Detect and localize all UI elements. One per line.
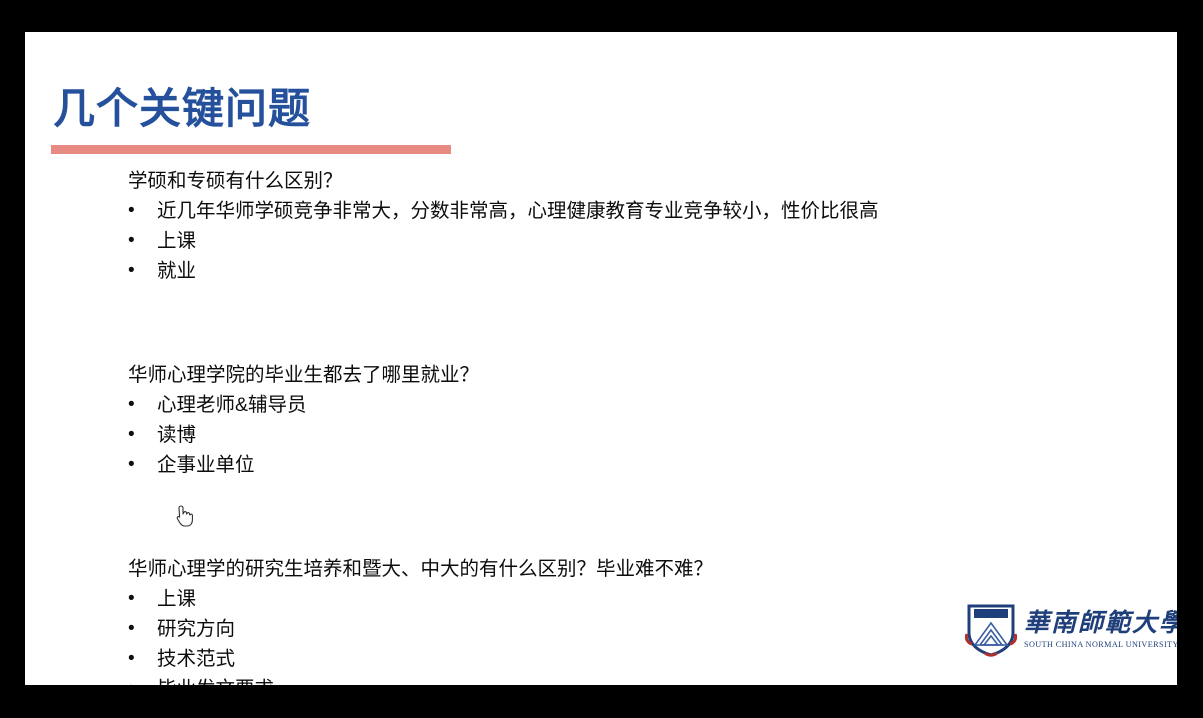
university-logo: 華南師範大學 SOUTH CHINA NORMAL UNIVERSITY xyxy=(965,600,1160,660)
bullet-icon: • xyxy=(128,674,157,685)
list-item-label: 读博 xyxy=(157,420,196,450)
logo-wordmark: 華南師範大學 SOUTH CHINA NORMAL UNIVERSITY xyxy=(1024,610,1177,649)
bullet-icon: • xyxy=(128,256,157,286)
list-item-label: 上课 xyxy=(157,584,196,614)
logo-name-en: SOUTH CHINA NORMAL UNIVERSITY xyxy=(1024,640,1177,650)
content-block-2: 华师心理学院的毕业生都去了哪里就业？ • 心理老师&辅导员 • 读博 • 企事业… xyxy=(128,360,1148,480)
list-item: • 读博 xyxy=(128,420,1148,450)
bullet-icon: • xyxy=(128,614,157,644)
block-heading: 华师心理学的研究生培养和暨大、中大的有什么区别？毕业难不难？ xyxy=(128,554,1148,584)
bullet-icon: • xyxy=(128,420,157,450)
block-spacer xyxy=(128,480,1148,524)
block-heading: 华师心理学院的毕业生都去了哪里就业？ xyxy=(128,360,1148,390)
list-item-label: 心理老师&辅导员 xyxy=(157,390,307,420)
list-item-label: 近几年华师学硕竞争非常大，分数非常高，心理健康教育专业竞争较小，性价比很高 xyxy=(157,196,879,226)
bullet-icon: • xyxy=(128,644,157,674)
list-item: • 心理老师&辅导员 xyxy=(128,390,1148,420)
content-block-1: 学硕和专硕有什么区别？ • 近几年华师学硕竞争非常大，分数非常高，心理健康教育专… xyxy=(128,166,1148,286)
bullet-icon: • xyxy=(128,226,157,256)
list-item-label: 上课 xyxy=(157,226,196,256)
list-item: • 毕业发文要求 xyxy=(128,674,1148,685)
list-item-label: 就业 xyxy=(157,256,196,286)
block-heading: 学硕和专硕有什么区别？ xyxy=(128,166,1148,196)
list-item: • 就业 xyxy=(128,256,1148,286)
screen-canvas: 几个关键问题 学硕和专硕有什么区别？ • 近几年华师学硕竞争非常大，分数非常高，… xyxy=(0,0,1203,718)
list-item-label: 技术范式 xyxy=(157,644,235,674)
block-spacer xyxy=(128,286,1148,330)
list-item-label: 毕业发文要求 xyxy=(157,674,274,685)
list-item: • 近几年华师学硕竞争非常大，分数非常高，心理健康教育专业竞争较小，性价比很高 xyxy=(128,196,1148,226)
list-item: • 上课 xyxy=(128,226,1148,256)
shield-icon xyxy=(965,603,1017,657)
list-item-label: 研究方向 xyxy=(157,614,235,644)
bullet-icon: • xyxy=(128,390,157,420)
title-underline-rule xyxy=(51,145,451,154)
block-spacer xyxy=(128,330,1148,360)
list-item-label: 企事业单位 xyxy=(157,450,255,480)
page-title: 几个关键问题 xyxy=(53,87,311,131)
logo-name-cn: 華南師範大學 xyxy=(1024,610,1177,638)
block-spacer xyxy=(128,524,1148,554)
bullet-icon: • xyxy=(128,196,157,226)
presentation-slide: 几个关键问题 学硕和专硕有什么区别？ • 近几年华师学硕竞争非常大，分数非常高，… xyxy=(25,32,1177,685)
list-item: • 企事业单位 xyxy=(128,450,1148,480)
bullet-icon: • xyxy=(128,584,157,614)
bullet-icon: • xyxy=(128,450,157,480)
